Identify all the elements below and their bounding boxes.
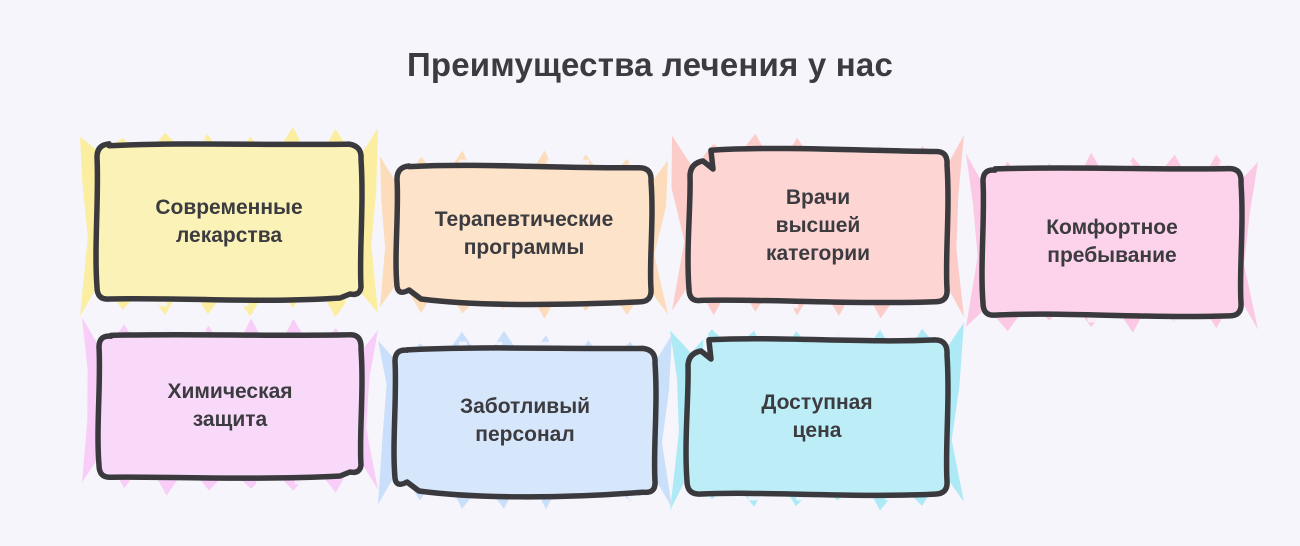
benefit-card-therapeutic-programs[interactable]: Терапевтические программы [396,166,652,302]
benefit-card-affordable-price[interactable]: Доступная цена [686,340,948,494]
card-shape-caring-staff [368,322,682,520]
card-shape-therapeutic-programs [370,140,678,328]
infographic-root: Преимущества лечения у нас Современные л… [0,0,1300,546]
benefit-card-modern-medicines[interactable]: Современные лекарства [96,144,362,300]
benefit-card-comfortable-stay[interactable]: Комфортное пребывание [982,168,1242,316]
benefit-card-caring-staff[interactable]: Заботливый персонал [394,348,656,494]
card-fill [394,348,656,497]
benefit-card-top-category-doctors[interactable]: Врачи высшей категории [688,150,948,302]
card-shape-modern-medicines [70,118,388,326]
card-fill [396,166,652,304]
card-fill [982,168,1242,317]
card-shape-chemical-protection [72,308,388,504]
benefit-card-chemical-protection[interactable]: Химическая защита [98,334,362,478]
card-fill [688,149,948,303]
card-fill [686,340,948,494]
card-shape-affordable-price [660,314,974,520]
card-shape-comfortable-stay [956,142,1268,342]
page-title: Преимущества лечения у нас [0,46,1300,84]
card-fill [98,334,362,478]
card-shape-top-category-doctors [662,124,974,328]
card-fill [96,144,362,300]
